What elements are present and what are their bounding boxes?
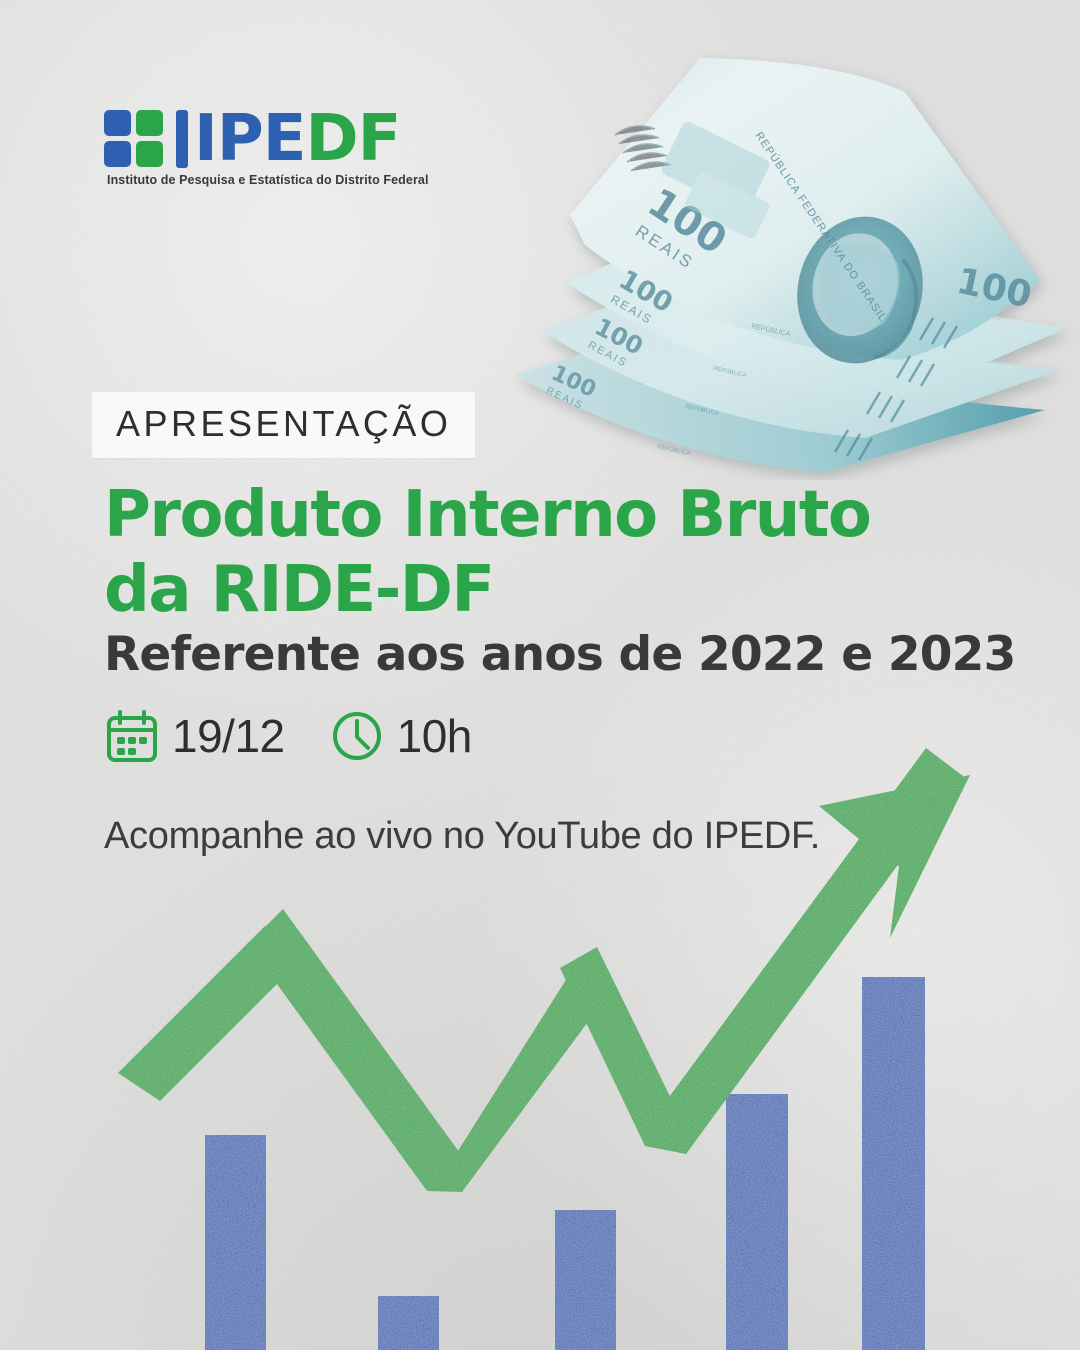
chart-bar	[378, 1296, 439, 1350]
logo-bar-icon	[176, 110, 188, 168]
event-date: 19/12	[104, 708, 285, 764]
event-date-value: 19/12	[172, 713, 285, 759]
event-time-value: 10h	[397, 713, 472, 759]
logo-word-ipe: IPE	[194, 102, 305, 176]
page-title-line-1: Produto Interno Bruto	[104, 478, 870, 553]
poster-canvas: REPÚBLICA FEDERATIVA DO BRASIL 100 REAIS…	[0, 0, 1080, 1350]
apresentacao-banner: APRESENTAÇÃO	[92, 392, 475, 458]
page-title-line-2: da RIDE-DF	[104, 553, 870, 628]
calendar-icon	[104, 708, 160, 764]
banknotes-photo: REPÚBLICA FEDERATIVA DO BRASIL 100 REAIS…	[505, 40, 1080, 480]
page-subtitle: Referente aos anos de 2022 e 2023	[104, 628, 1015, 682]
clock-icon	[329, 708, 385, 764]
logo-tagline: Instituto de Pesquisa e Estatística do D…	[107, 173, 429, 187]
logo-wordmark: IPEDF	[194, 110, 400, 168]
chart-bar	[726, 1094, 788, 1350]
chart-bar	[555, 1210, 616, 1350]
event-time: 10h	[329, 708, 472, 764]
logo-word-df: DF	[305, 102, 400, 176]
chart-bar	[205, 1135, 266, 1350]
apresentacao-label: APRESENTAÇÃO	[116, 406, 451, 442]
live-stream-note: Acompanhe ao vivo no YouTube do IPEDF.	[104, 815, 820, 858]
event-datetime-row: 19/12 10h	[104, 708, 472, 764]
ipedf-logo: IPEDF Instituto de Pesquisa e Estatístic…	[104, 110, 429, 187]
logo-row: IPEDF	[104, 110, 429, 168]
chart-bar	[862, 977, 925, 1350]
page-title: Produto Interno Bruto da RIDE-DF	[104, 478, 870, 628]
logo-mark-icon	[104, 110, 168, 168]
